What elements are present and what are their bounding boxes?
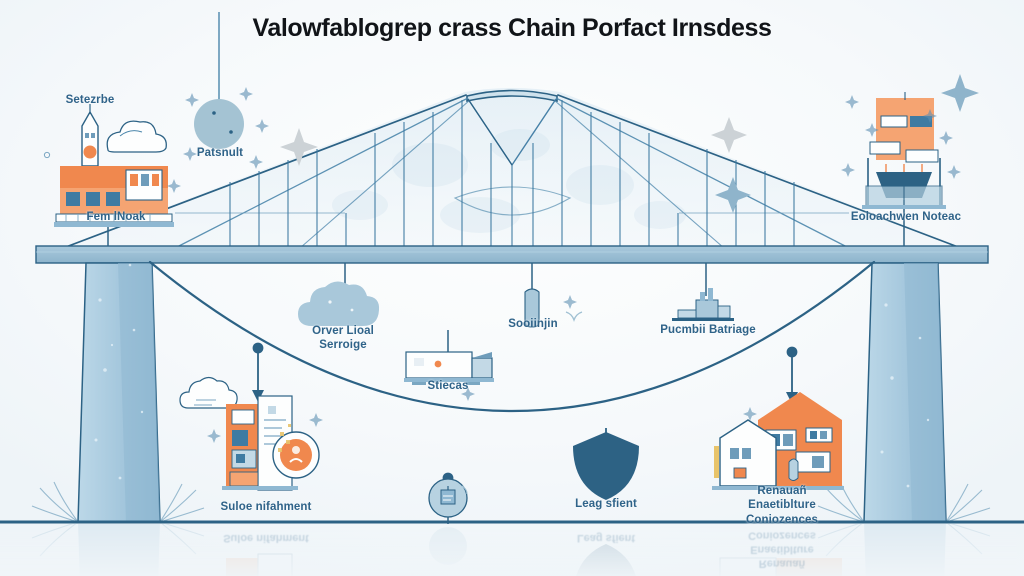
label-shield: Leag sfient [552, 497, 660, 511]
label-tag: Sooiinjin [492, 317, 574, 331]
label-warehouse: Eoloachwen Noteac [836, 210, 976, 224]
reflection-label-house: Renauañ Enaetiblture Coniozences [716, 528, 848, 569]
infographic-canvas: Valowfablogrep crass Chain Porfact Irnsd… [0, 0, 1024, 576]
shield-icon [573, 432, 639, 500]
label-pendulum: Patsnult [176, 146, 264, 160]
gauge-meter-icon [429, 479, 467, 524]
reflection-label-retail: Suloe nifahment [192, 530, 340, 544]
page-title: Valowfablogrep crass Chain Porfact Irnsd… [0, 14, 1024, 43]
bridge-pier-left [78, 263, 160, 522]
cloud-icon [298, 281, 379, 326]
label-truck: Stiecas [404, 379, 492, 393]
small-factory-icon [672, 288, 734, 321]
bridge-deck [36, 246, 988, 263]
cable-canopy [58, 88, 966, 250]
bridge-pier-right [864, 263, 946, 522]
label-house: Renauañ Enaetiblture Coniozences [716, 484, 848, 527]
house-icon [712, 392, 844, 490]
label-cloud-service: Orver Lioal Serroige [288, 324, 398, 353]
label-factory-top: Setezrbe [30, 93, 150, 107]
ground-reflection [0, 522, 1024, 576]
label-factory-bottom: Fem lNoak [48, 210, 184, 224]
reflection-label-shield: Leag sfient [552, 530, 660, 544]
retail-store-icon [180, 378, 319, 491]
label-retail: Suloe nifahment [192, 500, 340, 514]
bridge-illustration [0, 0, 1024, 576]
warehouse-dock-icon [862, 92, 946, 209]
factory-building-icon [44, 104, 174, 227]
label-plant: Pucmbii Batriage [646, 323, 770, 337]
